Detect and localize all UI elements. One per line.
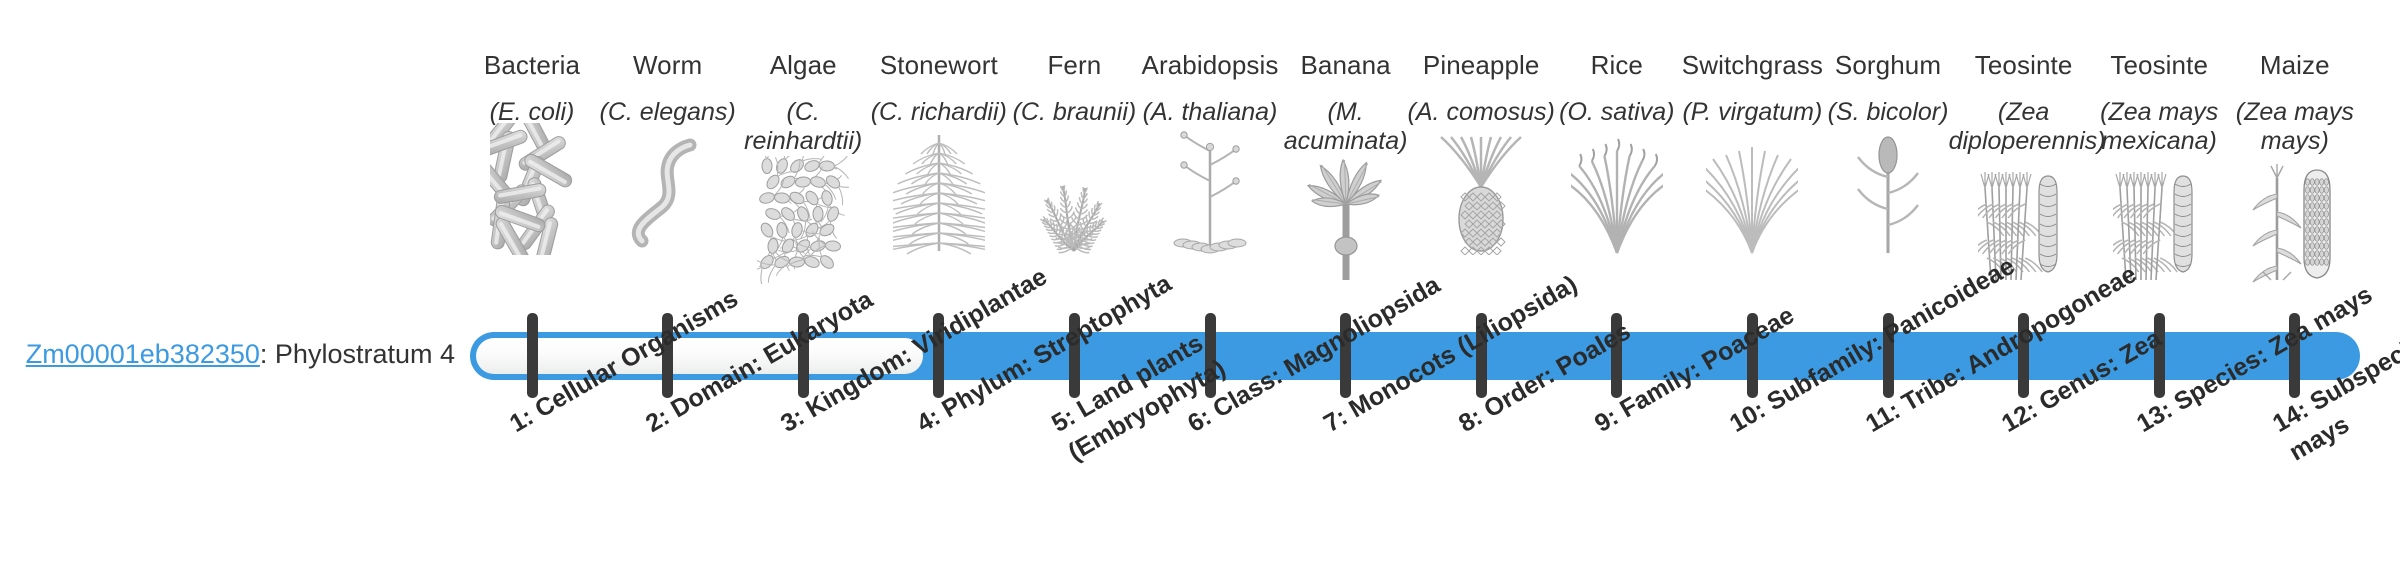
teosinte-illustration [2084,166,2234,284]
rank-tick-1[interactable] [527,313,538,398]
arabidopsis-illustration [1135,137,1285,255]
phylostratum-value: Phylostratum 4 [275,339,455,369]
species-column-banana-7: Banana(M. acuminata) [1271,50,1421,284]
rank-number: 2: [641,403,674,438]
species-column-teosinte-12: Teosinte(Zea diploperennis) [1949,50,2099,284]
species-common-name: Fern [999,50,1149,80]
species-scientific-name: (M. acuminata) [1271,98,1421,156]
species-common-name: Worm [593,50,743,80]
rank-number: 7: [1319,403,1352,438]
species-column-switchgrass-10: Switchgrass(P. virgatum) [1677,50,1827,255]
stonewort-illustration [864,137,1014,255]
species-scientific-name: (C. richardii) [864,98,1014,127]
switchgrass-illustration [1677,137,1827,255]
species-column-rice-9: Rice(O. sativa) [1542,50,1692,255]
algae-illustration [728,166,878,284]
species-scientific-name: (Zea diploperennis) [1949,98,2099,156]
species-column-maize-14: Maize(Zea mays mays) [2220,50,2370,284]
species-column-sorghum-11: Sorghum(S. bicolor) [1813,50,1963,255]
rank-number: 4: [912,403,945,438]
rank-number: 5: [1047,403,1080,438]
species-scientific-name: (C. elegans) [593,98,743,127]
species-common-name: Teosinte [2084,50,2234,80]
rank-number: 12: [1997,396,2042,438]
species-scientific-name: (O. sativa) [1542,98,1692,127]
gene-label-separator: : [260,339,275,369]
rank-number: 1: [505,403,538,438]
species-scientific-name: (P. virgatum) [1677,98,1827,127]
species-scientific-name: (S. bicolor) [1813,98,1963,127]
rank-number: 8: [1454,403,1487,438]
gene-id-link[interactable]: Zm00001eb382350 [26,339,260,369]
species-scientific-name: (A. comosus) [1406,98,1556,127]
gene-phylostratum-label: Zm00001eb382350: Phylostratum 4 [0,338,455,370]
species-common-name: Teosinte [1949,50,2099,80]
maize-illustration [2220,166,2370,284]
rice-illustration [1542,137,1692,255]
phylostratum-timeline: Zm00001eb382350: Phylostratum 4 Bacteria… [0,0,2400,580]
bacteria-illustration [457,137,607,255]
species-common-name: Bacteria [457,50,607,80]
worm-illustration [593,137,743,255]
species-column-fern-5: Fern(C. braunii) [999,50,1149,255]
species-scientific-name: (C. braunii) [999,98,1149,127]
banana-illustration [1271,166,1421,284]
species-common-name: Arabidopsis [1135,50,1285,80]
species-column-pineapple-8: Pineapple(A. comosus) [1406,50,1556,255]
pineapple-illustration [1406,137,1556,255]
species-common-name: Sorghum [1813,50,1963,80]
species-common-name: Algae [728,50,878,80]
species-scientific-name: (Zea mays mexicana) [2084,98,2234,156]
species-common-name: Switchgrass [1677,50,1827,80]
fern-illustration [999,137,1149,255]
species-column-worm-2: Worm(C. elegans) [593,50,743,255]
rank-number: 10: [1725,396,1770,438]
species-column-arabidopsis-6: Arabidopsis(A. thaliana) [1135,50,1285,255]
species-common-name: Banana [1271,50,1421,80]
species-column-bacteria-1: Bacteria(E. coli) [457,50,607,255]
species-scientific-name: (A. thaliana) [1135,98,1285,127]
species-column-stonewort-4: Stonewort(C. richardii) [864,50,1014,255]
species-column-teosinte-13: Teosinte(Zea mays mexicana) [2084,50,2234,284]
rank-number: 6: [1183,403,1216,438]
rank-number: 3: [776,403,809,438]
species-common-name: Rice [1542,50,1692,80]
species-column-algae-3: Algae(C. reinhardtii) [728,50,878,284]
species-common-name: Pineapple [1406,50,1556,80]
species-scientific-name: (C. reinhardtii) [728,98,878,156]
species-common-name: Maize [2220,50,2370,80]
teosinte-illustration [1949,166,2099,284]
rank-number: 11: [1861,396,1905,438]
rank-number: 13: [2132,396,2177,438]
sorghum-illustration [1813,137,1963,255]
species-common-name: Stonewort [864,50,1014,80]
rank-number: 9: [1590,403,1623,438]
species-scientific-name: (Zea mays mays) [2220,98,2370,156]
